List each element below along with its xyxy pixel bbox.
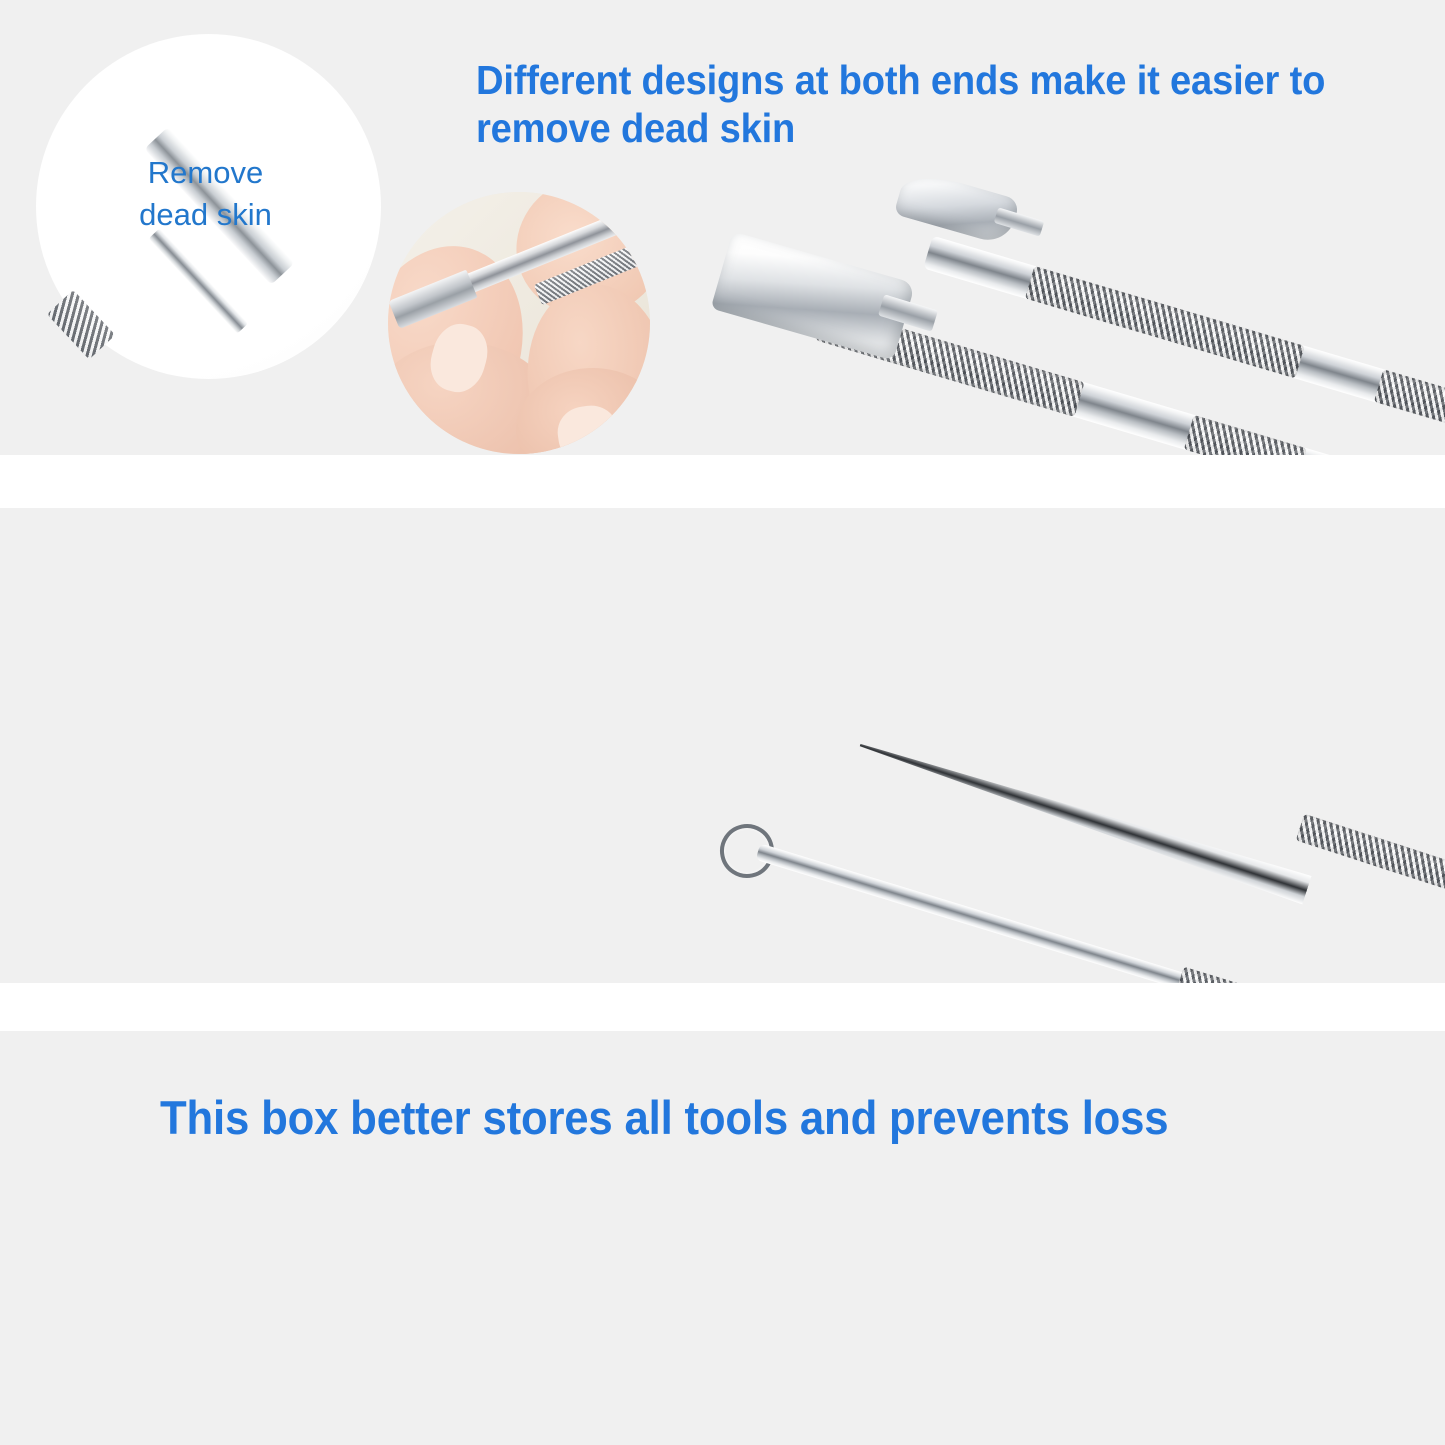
needle-knurled-grip — [1296, 814, 1445, 890]
headline-storage-case: This box better stores all tools and pre… — [160, 1090, 1323, 1145]
extractor-knurled-grip — [1176, 967, 1356, 983]
tool-knurled-grip — [1025, 266, 1305, 379]
extractor-shaft — [756, 843, 1220, 983]
section-nail-cleaner: Very sharp Can dig out deep dirt to prev… — [0, 508, 1445, 983]
cuticle-pusher-knurled-tip — [47, 290, 116, 360]
tool-knurled-grip-2 — [1184, 415, 1307, 455]
callout-label-remove-dead-skin: Remove dead skin — [98, 152, 313, 235]
spoon-head — [894, 168, 1021, 247]
headline-cuticle-pusher: Different designs at both ends make it e… — [476, 56, 1350, 153]
infographic-page: Remove dead skin Different designs at bo… — [0, 0, 1445, 1445]
needle-taper — [855, 731, 1311, 905]
callout-bubble-remove-dead-skin: Remove dead skin — [36, 34, 381, 379]
hand-holding-cuticle-pusher-photo — [388, 192, 650, 454]
tool-knurled-grip-2 — [1374, 369, 1445, 433]
section-cuticle-pusher: Remove dead skin Different designs at bo… — [0, 0, 1445, 455]
